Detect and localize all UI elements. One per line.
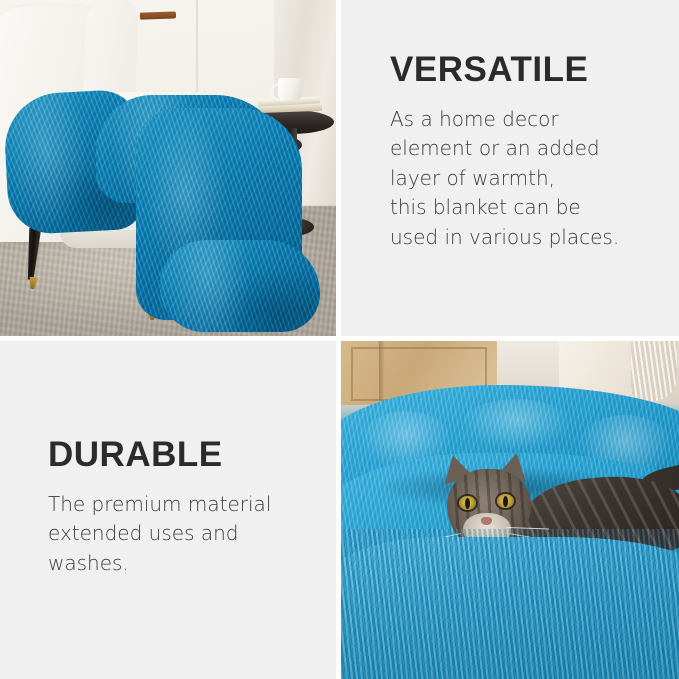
- versatile-body-line: layer of warmth,: [390, 164, 670, 193]
- versatile-body-line: this blanket can be: [390, 193, 670, 222]
- versatile-body: As a home decor element or an added laye…: [390, 105, 670, 252]
- photo-cat-on-blanket: [341, 341, 679, 679]
- versatile-heading: VERSATILE: [390, 52, 670, 87]
- product-feature-collage: VERSATILE As a home decor element or an …: [0, 0, 679, 679]
- blanket-fold-highlight: [461, 399, 571, 451]
- durable-body: The premium material extended uses and w…: [48, 490, 318, 578]
- panel-versatile: VERSATILE As a home decor element or an …: [341, 0, 679, 336]
- bedroom-scene: [341, 341, 679, 679]
- durable-body-line: extended uses and: [48, 519, 318, 548]
- throw-blanket: [160, 240, 320, 332]
- panel-durable: DURABLE The premium material extended us…: [0, 341, 336, 679]
- cat-nose: [481, 517, 492, 525]
- wood-shelf: [140, 11, 176, 19]
- cat-pupil: [503, 496, 508, 507]
- fur-texture: [160, 240, 320, 332]
- durable-body-line: washes.: [48, 549, 318, 578]
- versatile-body-line: element or an added: [390, 134, 670, 163]
- versatile-copy-block: VERSATILE As a home decor element or an …: [390, 52, 670, 252]
- blanket-shag-fringe: [341, 529, 679, 679]
- durable-body-line: The premium material: [48, 490, 318, 519]
- pillow-fur-texture: [631, 341, 677, 401]
- coffee-mug: [278, 78, 302, 100]
- durable-heading: DURABLE: [48, 437, 318, 472]
- headboard-panel-edge: [379, 341, 385, 401]
- durable-copy-block: DURABLE The premium material extended us…: [48, 437, 318, 578]
- chair-scene: [0, 0, 336, 336]
- cat-pupil: [465, 498, 470, 509]
- versatile-body-line: As a home decor: [390, 105, 670, 134]
- photo-chair-with-throw: [0, 0, 336, 336]
- versatile-body-line: used in various places.: [390, 223, 670, 252]
